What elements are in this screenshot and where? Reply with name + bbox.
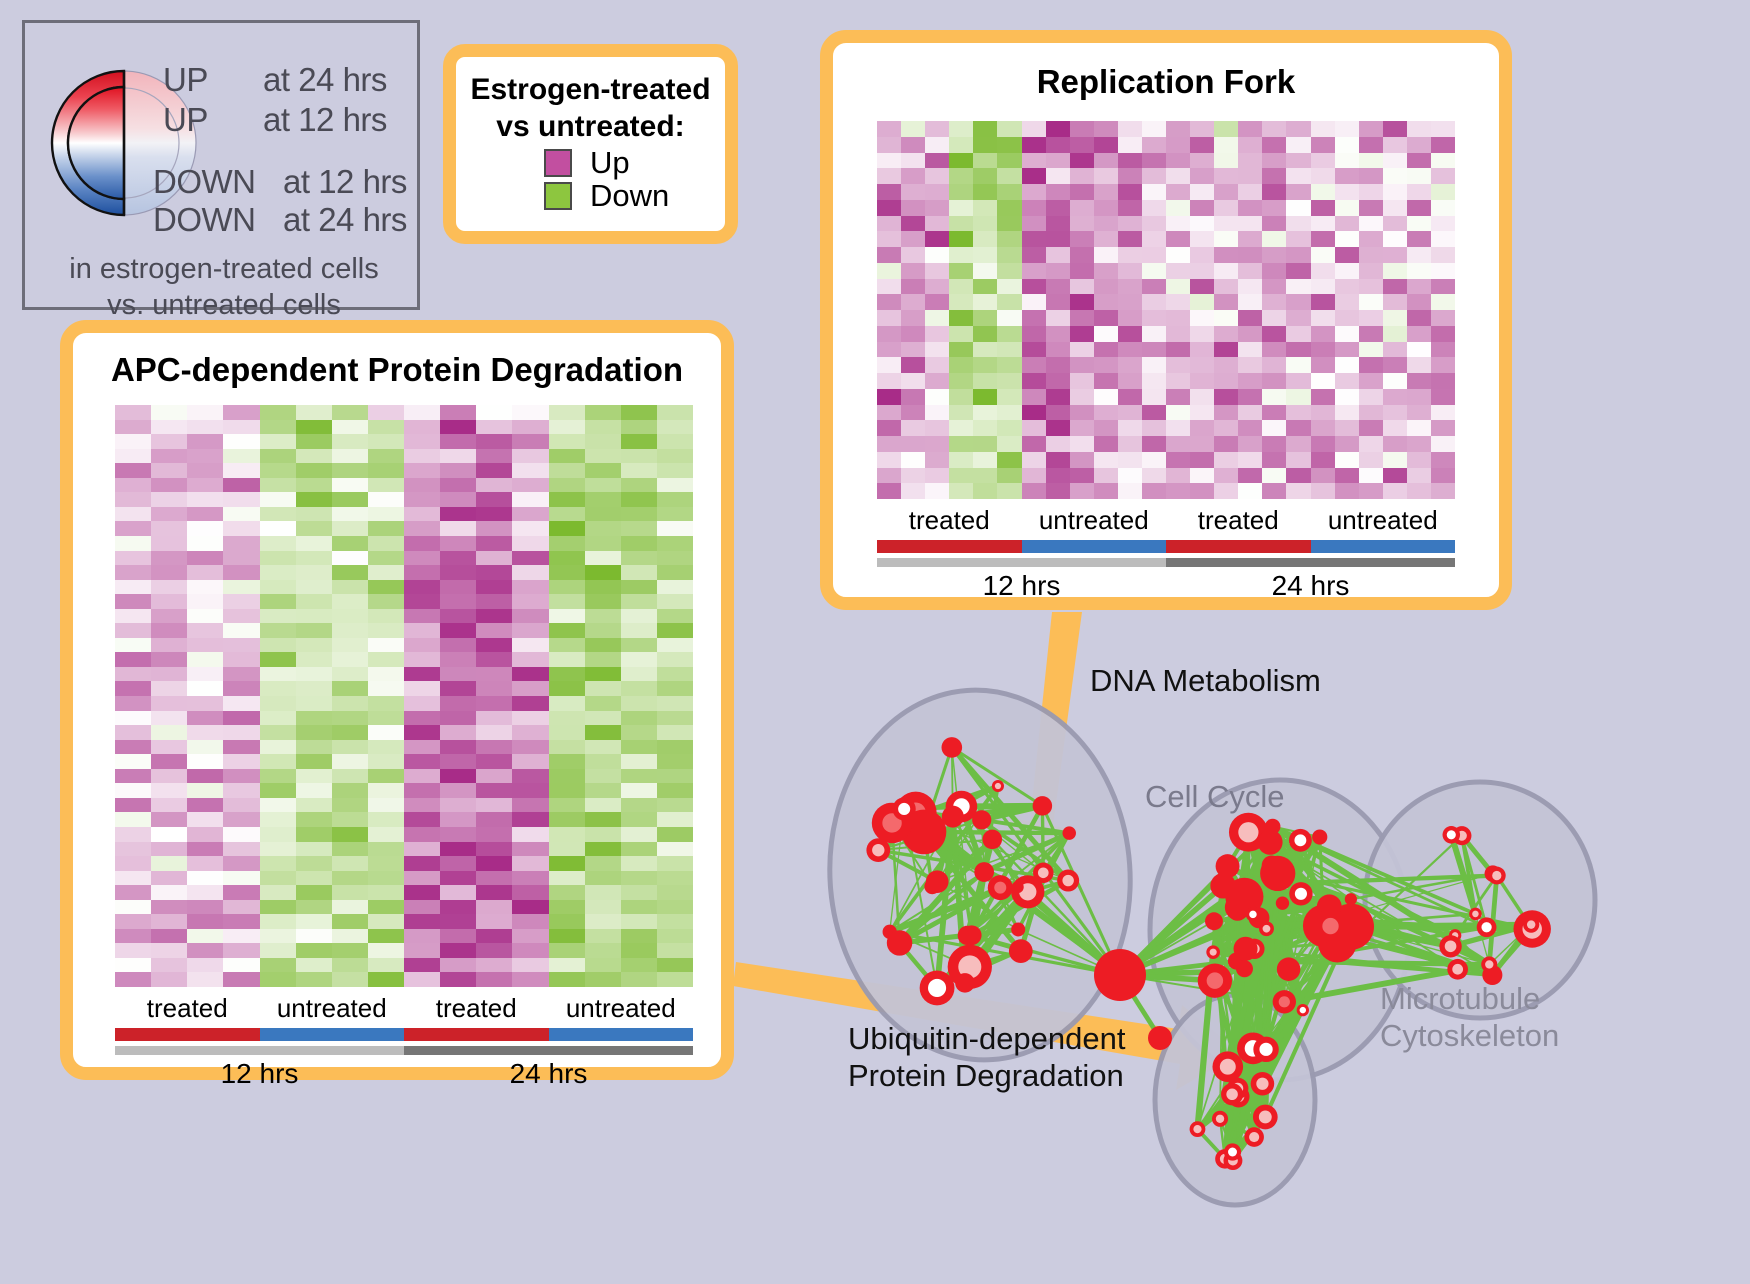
heatmap-cell <box>1431 310 1455 326</box>
network-node-core <box>995 783 1001 789</box>
heatmap-cell <box>368 885 404 900</box>
heatmap-cell <box>1238 247 1262 263</box>
heatmap-cell <box>549 521 585 536</box>
heatmap-cell <box>260 856 296 871</box>
network-node-core <box>1216 1115 1224 1123</box>
heatmap-cell <box>368 740 404 755</box>
heatmap-cell <box>997 216 1021 232</box>
heatmap-cell <box>332 769 368 784</box>
heatmap-cell <box>1335 137 1359 153</box>
heatmap-cell <box>512 798 548 813</box>
heatmap-cell <box>223 740 259 755</box>
heatmap-cell <box>1383 342 1407 358</box>
heatmap-cell <box>440 943 476 958</box>
heatmap-cell <box>332 492 368 507</box>
heatmap-cell <box>549 565 585 580</box>
heatmap-cell <box>621 812 657 827</box>
heatmap-cell <box>1359 279 1383 295</box>
heatmap-cell <box>476 827 512 842</box>
heatmap-cell <box>512 507 548 522</box>
heatmap-cell <box>296 492 332 507</box>
network-node <box>1062 826 1075 839</box>
heatmap-cell <box>187 492 223 507</box>
heatmap-cell <box>151 871 187 886</box>
rep-time-bar-0 <box>877 558 1166 567</box>
colorbar-legend-box: UP at 24 hrs UP at 12 hrs DOWN at 12 hrs… <box>22 20 420 310</box>
network-node-core <box>1249 1132 1259 1142</box>
heatmap-cell <box>115 609 151 624</box>
heatmap-cell <box>1214 373 1238 389</box>
ring-label-up-24: UP <box>163 61 208 99</box>
heatmap-cell <box>187 434 223 449</box>
ring-time-down-24: at 24 hrs <box>283 201 407 239</box>
heatmap-cell <box>1262 216 1286 232</box>
heatmap-cell <box>877 436 901 452</box>
heatmap-cell <box>1262 200 1286 216</box>
heatmap-cell <box>223 798 259 813</box>
heatmap-cell <box>1383 310 1407 326</box>
heatmap-cell <box>901 483 925 499</box>
heatmap-cell <box>1311 420 1335 436</box>
heatmap-cell <box>1046 452 1070 468</box>
heatmap-cell <box>260 580 296 595</box>
heatmap-cell <box>476 667 512 682</box>
rep-time-bar-1 <box>1166 558 1455 567</box>
heatmap-cell <box>549 972 585 987</box>
heatmap-cell <box>476 420 512 435</box>
network-node <box>1012 881 1024 893</box>
heatmap-cell <box>115 900 151 915</box>
heatmap-cell <box>260 929 296 944</box>
heatmap-cell <box>1142 294 1166 310</box>
heatmap-cell <box>621 580 657 595</box>
heatmap-cell <box>512 405 548 420</box>
heatmap-cell <box>549 652 585 667</box>
heatmap-cell <box>1286 200 1310 216</box>
network-node-core <box>1038 867 1049 878</box>
heatmap-cell <box>1190 326 1214 342</box>
heatmap-cell <box>368 551 404 566</box>
heatmap-cell <box>151 711 187 726</box>
network-node-core <box>928 979 946 997</box>
heatmap-cell <box>1094 452 1118 468</box>
heatmap-cell <box>1262 168 1286 184</box>
heatmap-cell <box>115 812 151 827</box>
heatmap-cell <box>368 754 404 769</box>
heatmap-cell <box>332 594 368 609</box>
heatmap-cell <box>949 452 973 468</box>
heatmap-cell <box>1142 200 1166 216</box>
heatmap-cell <box>115 594 151 609</box>
network-node <box>958 926 977 945</box>
heatmap-cell <box>440 681 476 696</box>
heatmap-cell <box>585 681 621 696</box>
heatmap-cell <box>151 638 187 653</box>
heatmap-cell <box>1407 168 1431 184</box>
heatmap-cell <box>368 594 404 609</box>
heatmap-cell <box>1335 468 1359 484</box>
heatmap-cell <box>1359 137 1383 153</box>
heatmap-cell <box>332 638 368 653</box>
heatmap-cell <box>296 609 332 624</box>
heatmap-cell <box>404 449 440 464</box>
heatmap-cell <box>1190 436 1214 452</box>
network-node-core <box>1295 888 1307 900</box>
heatmap-cell <box>368 492 404 507</box>
heatmap-cell <box>296 551 332 566</box>
heatmap-cell <box>1118 389 1142 405</box>
heatmap-cell <box>1286 436 1310 452</box>
heatmap-cell <box>223 900 259 915</box>
cluster-label-ubiquitin: Ubiquitin-dependent Protein Degradation <box>848 1020 1126 1094</box>
heatmap-cell <box>1190 483 1214 499</box>
heatmap-cell <box>1311 326 1335 342</box>
heatmap-cell <box>657 623 693 638</box>
heatmap-cell <box>1431 279 1455 295</box>
heatmap-cell <box>549 507 585 522</box>
heatmap-cell <box>657 492 693 507</box>
heatmap-cell <box>151 405 187 420</box>
heatmap-cell <box>476 492 512 507</box>
heatmap-cell <box>1359 294 1383 310</box>
heatmap-cell <box>585 871 621 886</box>
network-node-core <box>1210 949 1217 956</box>
heatmap-cell <box>151 551 187 566</box>
heatmap-cell <box>621 842 657 857</box>
heatmap-cell <box>1022 357 1046 373</box>
heatmap-cell <box>1070 468 1094 484</box>
heatmap-cell <box>115 972 151 987</box>
heatmap-cell <box>1166 168 1190 184</box>
heatmap-cell <box>476 725 512 740</box>
heatmap-cell <box>296 536 332 551</box>
apc-treatment-bar-1 <box>260 1028 405 1041</box>
heatmap-cell <box>151 740 187 755</box>
heatmap-cell <box>1335 247 1359 263</box>
heatmap-cell <box>1335 389 1359 405</box>
heatmap-cell <box>296 565 332 580</box>
heatmap-cell <box>1383 357 1407 373</box>
heatmap-cell <box>115 740 151 755</box>
heatmap-cell <box>1383 452 1407 468</box>
heatmap-cell <box>549 943 585 958</box>
heatmap-cell <box>585 798 621 813</box>
heatmap-cell <box>1118 153 1142 169</box>
heatmap-cell <box>260 900 296 915</box>
heatmap-cell <box>476 696 512 711</box>
heatmap-cell <box>187 551 223 566</box>
apc-time-bar <box>115 1046 693 1055</box>
heatmap-cell <box>440 478 476 493</box>
heatmap-cell <box>1311 121 1335 137</box>
heatmap-cell <box>115 885 151 900</box>
heatmap-cell <box>260 885 296 900</box>
heatmap-cell <box>973 357 997 373</box>
heatmap-cell <box>404 681 440 696</box>
heatmap-cell <box>997 357 1021 373</box>
heatmap-cell <box>187 798 223 813</box>
heatmap-cell <box>187 900 223 915</box>
heatmap-cell <box>476 521 512 536</box>
heatmap-cell <box>223 609 259 624</box>
heatmap-cell <box>585 783 621 798</box>
heatmap-cell <box>973 373 997 389</box>
heatmap-cell <box>1022 216 1046 232</box>
heatmap-cell <box>260 405 296 420</box>
apc-group-label-3: untreated <box>549 993 694 1024</box>
heatmap-cell <box>260 827 296 842</box>
heatmap-cell <box>115 652 151 667</box>
heatmap-cell <box>115 769 151 784</box>
heatmap-cell <box>657 667 693 682</box>
heatmap-cell <box>332 725 368 740</box>
heatmap-cell <box>260 420 296 435</box>
network-node <box>942 737 963 758</box>
heatmap-cell <box>1286 216 1310 232</box>
heatmap-cell <box>404 972 440 987</box>
network-node-core <box>1249 911 1256 918</box>
heatmap-cell <box>1431 294 1455 310</box>
heatmap-cell <box>1407 373 1431 389</box>
heatmap-cell <box>585 914 621 929</box>
heatmap-cell <box>404 914 440 929</box>
heatmap-cell <box>260 594 296 609</box>
heatmap-cell <box>1383 137 1407 153</box>
heatmap-cell <box>949 373 973 389</box>
heatmap-cell <box>512 551 548 566</box>
heatmap-cell <box>997 153 1021 169</box>
network-node <box>1236 960 1253 977</box>
heatmap-cell <box>1286 452 1310 468</box>
heatmap-cell <box>973 405 997 421</box>
heatmap-cell <box>1046 420 1070 436</box>
heatmap-cell <box>1311 216 1335 232</box>
heatmap-cell <box>1070 389 1094 405</box>
heatmap-cell <box>549 929 585 944</box>
heatmap-cell <box>223 580 259 595</box>
network-node-core <box>1279 996 1290 1007</box>
heatmap-cell <box>585 623 621 638</box>
heatmap-cell <box>476 551 512 566</box>
heatmap-cell <box>1118 405 1142 421</box>
heatmap-cell <box>404 594 440 609</box>
heatmap-cell <box>997 247 1021 263</box>
heatmap-cell <box>440 885 476 900</box>
heatmap-cell <box>151 434 187 449</box>
heatmap-cell <box>997 436 1021 452</box>
heatmap-cell <box>1190 310 1214 326</box>
heatmap-cell <box>925 231 949 247</box>
down-color-swatch <box>544 182 572 210</box>
heatmap-cell <box>1166 452 1190 468</box>
heatmap-cell <box>973 216 997 232</box>
heatmap-cell <box>223 652 259 667</box>
heatmap-cell <box>1190 468 1214 484</box>
heatmap-cell <box>997 121 1021 137</box>
heatmap-cell <box>512 711 548 726</box>
heatmap-cell <box>549 754 585 769</box>
heatmap-cell <box>1022 121 1046 137</box>
heatmap-cell <box>512 827 548 842</box>
heatmap-cell <box>585 812 621 827</box>
heatmap-cell <box>296 827 332 842</box>
heatmap-cell <box>925 326 949 342</box>
heatmap-cell <box>1070 294 1094 310</box>
heatmap-cell <box>368 565 404 580</box>
heatmap-cell <box>440 740 476 755</box>
heatmap-cell <box>1046 373 1070 389</box>
heatmap-cell <box>1046 357 1070 373</box>
network-node-core <box>1220 1059 1236 1075</box>
heatmap-cell <box>901 310 925 326</box>
heatmap-cell <box>1311 452 1335 468</box>
heatmap-cell <box>657 405 693 420</box>
heatmap-cell <box>621 871 657 886</box>
heatmap-cell <box>1070 310 1094 326</box>
heatmap-cell <box>1070 200 1094 216</box>
heatmap-cell <box>901 200 925 216</box>
heatmap-cell <box>1431 389 1455 405</box>
heatmap-cell <box>1335 373 1359 389</box>
legend-footer-line2: vs. untreated cells <box>25 287 423 323</box>
heatmap-cell <box>925 153 949 169</box>
heatmap-cell <box>585 405 621 420</box>
heatmap-cell <box>223 725 259 740</box>
heatmap-cell <box>1214 483 1238 499</box>
up-key-label: Up <box>590 147 630 178</box>
heatmap-cell <box>1262 373 1286 389</box>
heatmap-cell <box>187 594 223 609</box>
heatmap-cell <box>1311 483 1335 499</box>
heatmap-cell <box>1070 121 1094 137</box>
heatmap-cell <box>332 609 368 624</box>
heatmap-cell <box>1407 200 1431 216</box>
heatmap-cell <box>1286 137 1310 153</box>
heatmap-cell <box>877 168 901 184</box>
network-node-core <box>872 844 884 856</box>
heatmap-cell <box>440 507 476 522</box>
heatmap-cell <box>512 812 548 827</box>
heatmap-cell <box>1359 389 1383 405</box>
heatmap-cell <box>1166 357 1190 373</box>
heatmap-cell <box>1022 200 1046 216</box>
heatmap-cell <box>1094 326 1118 342</box>
heatmap-cell <box>1190 231 1214 247</box>
heatmap-cell <box>115 711 151 726</box>
heatmap-cell <box>949 483 973 499</box>
heatmap-cell <box>1238 420 1262 436</box>
heatmap-cell <box>440 769 476 784</box>
heatmap-cell <box>1118 263 1142 279</box>
heatmap-cell <box>260 463 296 478</box>
apc-group-labels: treated untreated treated untreated <box>115 993 693 1024</box>
heatmap-cell <box>1142 373 1166 389</box>
heatmap-cell <box>997 279 1021 295</box>
heatmap-cell <box>187 885 223 900</box>
heatmap-cell <box>1118 247 1142 263</box>
heatmap-cell <box>187 827 223 842</box>
heatmap-cell <box>1094 263 1118 279</box>
heatmap-cell <box>512 943 548 958</box>
heatmap-cell <box>1407 405 1431 421</box>
heatmap-cell <box>1142 263 1166 279</box>
heatmap-cell <box>332 958 368 973</box>
heatmap-cell <box>549 958 585 973</box>
heatmap-cell <box>296 463 332 478</box>
heatmap-cell <box>1214 420 1238 436</box>
heatmap-cell <box>296 754 332 769</box>
heatmap-cell <box>1383 153 1407 169</box>
heatmap-cell <box>1214 216 1238 232</box>
heatmap-cell <box>512 929 548 944</box>
heatmap-cell <box>223 914 259 929</box>
heatmap-cell <box>115 565 151 580</box>
heatmap-cell <box>151 623 187 638</box>
heatmap-cell <box>151 943 187 958</box>
heatmap-cell <box>1359 310 1383 326</box>
heatmap-cell <box>585 740 621 755</box>
heatmap-cell <box>332 754 368 769</box>
network-node <box>1033 796 1053 816</box>
heatmap-cell <box>1118 279 1142 295</box>
heatmap-cell <box>1142 420 1166 436</box>
network-node-core <box>1481 922 1491 932</box>
heatmap-cell <box>621 652 657 667</box>
heatmap-cell <box>296 900 332 915</box>
network-node-core <box>1238 822 1258 842</box>
heatmap-cell <box>476 449 512 464</box>
heatmap-cell <box>949 294 973 310</box>
heatmap-cell <box>1407 279 1431 295</box>
heatmap-cell <box>115 463 151 478</box>
heatmap-cell <box>260 652 296 667</box>
heatmap-cell <box>549 842 585 857</box>
heatmap-cell <box>1262 468 1286 484</box>
heatmap-cell <box>260 711 296 726</box>
network-node <box>1265 819 1281 835</box>
network-node-core <box>994 882 1006 894</box>
heatmap-cell <box>949 405 973 421</box>
heatmap-cell <box>949 153 973 169</box>
heatmap-cell <box>404 551 440 566</box>
heatmap-cell <box>223 507 259 522</box>
heatmap-cell <box>1046 326 1070 342</box>
heatmap-cell <box>260 696 296 711</box>
heatmap-cell <box>657 769 693 784</box>
heatmap-cell <box>549 783 585 798</box>
heatmap-cell <box>476 914 512 929</box>
heatmap-cell <box>1118 200 1142 216</box>
heatmap-cell <box>549 725 585 740</box>
heatmap-cell <box>1383 279 1407 295</box>
heatmap-cell <box>1190 121 1214 137</box>
heatmap-cell <box>1166 121 1190 137</box>
heatmap-cell <box>585 827 621 842</box>
heatmap-cell <box>949 231 973 247</box>
heatmap-cell <box>512 623 548 638</box>
heatmap-cell <box>296 696 332 711</box>
heatmap-cell <box>1359 342 1383 358</box>
heatmap-cell <box>1286 342 1310 358</box>
heatmap-cell <box>657 856 693 871</box>
heatmap-cell <box>476 711 512 726</box>
heatmap-cell <box>223 929 259 944</box>
heatmap-cell <box>512 740 548 755</box>
heatmap-cell <box>657 885 693 900</box>
heatmap-cell <box>187 972 223 987</box>
heatmap-cell <box>1431 231 1455 247</box>
heatmap-cell <box>549 769 585 784</box>
